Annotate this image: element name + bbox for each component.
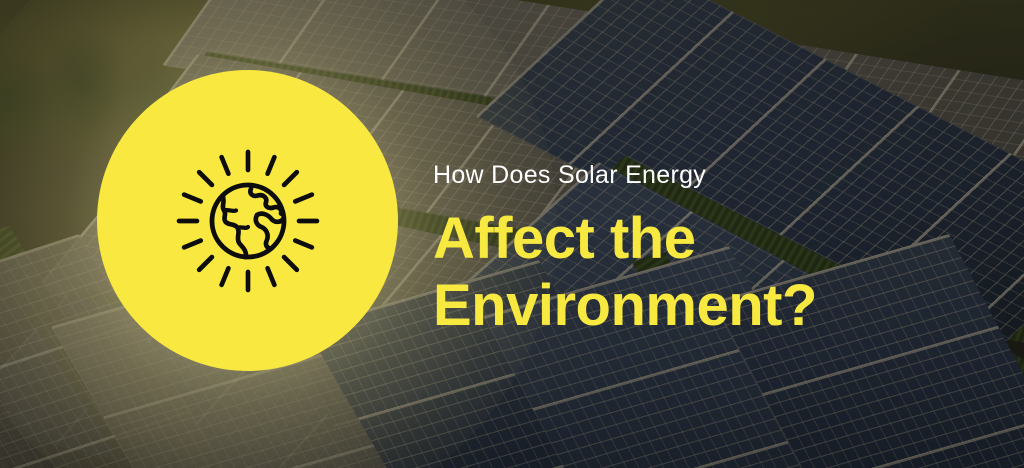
page-title: Affect the Environment? (433, 205, 993, 340)
sun-badge (97, 70, 398, 371)
globe-sun-icon (173, 146, 323, 296)
eyebrow-text: How Does Solar Energy (433, 163, 993, 188)
headline-line-1: Affect the (433, 205, 993, 272)
headline-block: How Does Solar Energy Affect the Environ… (433, 163, 993, 340)
headline-line-2: Environment? (433, 272, 993, 339)
solar-energy-banner: How Does Solar Energy Affect the Environ… (0, 0, 1024, 468)
